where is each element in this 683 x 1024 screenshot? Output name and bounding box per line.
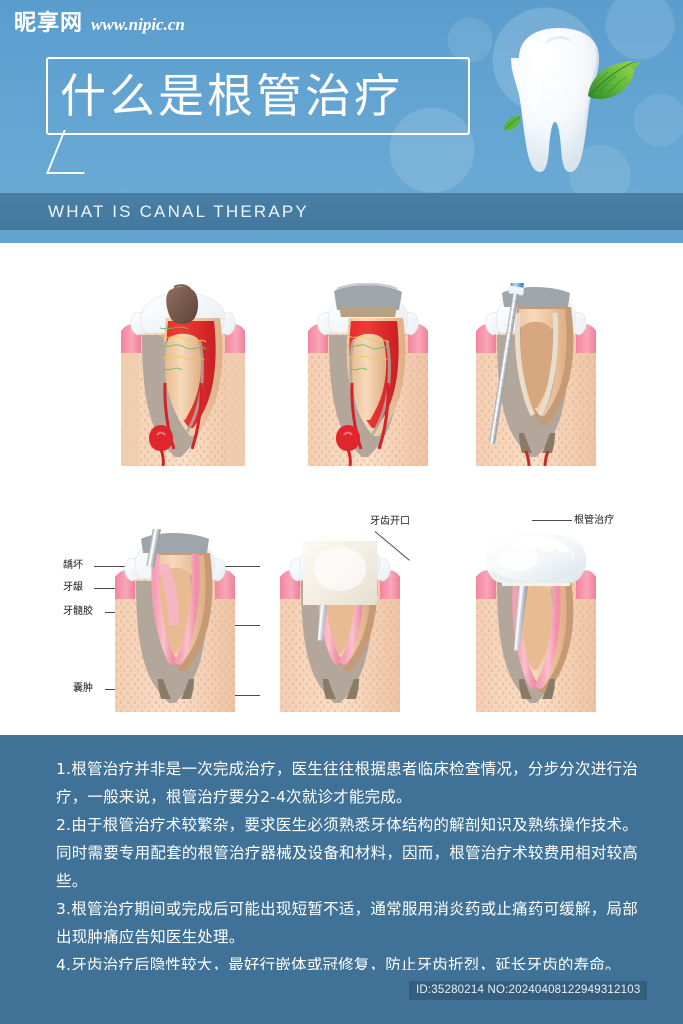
subtitle-bar: WHAT IS CANAL THERAPY: [0, 193, 683, 230]
fig-infected-tooth: [108, 283, 258, 468]
label-access-opening: 牙齿开口: [370, 516, 410, 528]
paragraph-1: 1.根管治疗并非是一次完成治疗，医生往往根据患者临床检查情况，分步分次进行治疗，…: [56, 755, 638, 811]
fig-gutta-percha: [105, 529, 245, 714]
paragraph-2: 2.由于根管治疗术较繁杂，要求医生必须熟悉牙体结构的解剖知识及熟练操作技术。同时…: [56, 811, 638, 895]
leader-canal-therapy: [532, 520, 572, 521]
image-id-tag: ID:35280214 NO:20240408122949312103: [409, 981, 647, 1000]
bubble-tail: [46, 130, 102, 174]
label-gum: 牙龈: [63, 582, 83, 594]
mint-leaf-icon: [586, 60, 642, 102]
label-canal-therapy: 根管治疗: [574, 515, 614, 527]
description-text: 1.根管治疗并非是一次完成治疗，医生往往根据患者临床检查情况，分步分次进行治疗，…: [56, 755, 638, 979]
subtitle-underbar: [0, 230, 683, 243]
fig-canal-instrumentation: [466, 283, 606, 468]
fig-access-opening: [303, 283, 433, 468]
diagram-panel: 龋坏 牙龈 牙髓胶 囊肿: [0, 243, 683, 735]
mint-leaf-small-icon: [503, 115, 521, 131]
paragraph-3: 3.根管治疗期间或完成后可能出现短暂不适，通常服用消炎药或止痛药可缓解，局部出现…: [56, 895, 638, 951]
brand-name-cn: 昵享网: [14, 11, 83, 36]
subtitle-en: WHAT IS CANAL THERAPY: [48, 193, 309, 230]
fig-core-filling: [270, 529, 410, 714]
label-caries: 龋坏: [63, 560, 83, 572]
label-pulp: 牙髓胶: [63, 606, 93, 618]
page-title: 什么是根管治疗: [60, 60, 480, 132]
label-cyst: 囊肿: [73, 683, 93, 695]
site-watermark: 昵享网www.nipic.cn: [14, 10, 185, 38]
description-section: 1.根管治疗并非是一次完成治疗，医生往往根据患者临床检查情况，分步分次进行治疗，…: [0, 735, 683, 970]
poster-root: 什么是根管治疗: [0, 0, 683, 1024]
fig-full-crown: [466, 529, 606, 714]
brand-url: www.nipic.cn: [91, 15, 185, 34]
